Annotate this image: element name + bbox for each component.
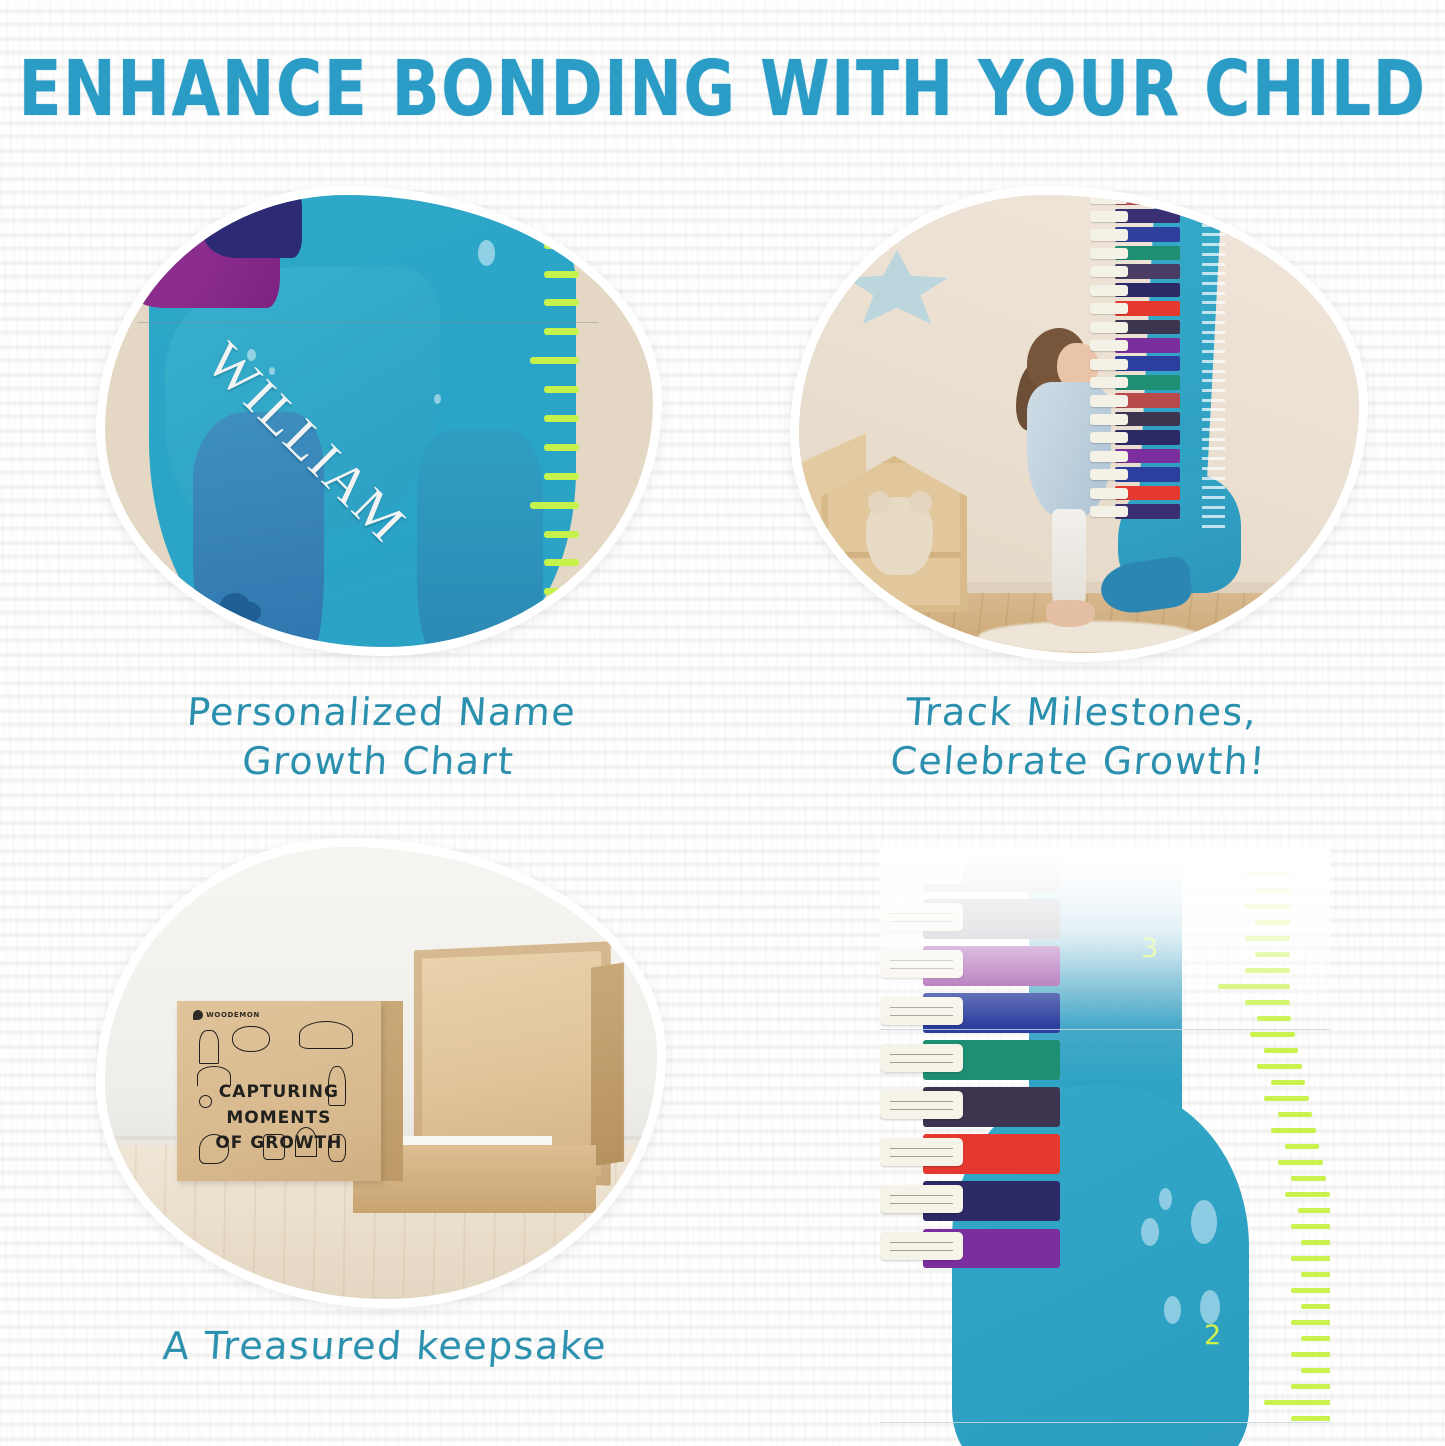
spine-tab	[1090, 229, 1128, 240]
spine-tab	[1090, 395, 1128, 406]
spine-tab	[1090, 414, 1128, 425]
closed-box-side	[381, 1001, 403, 1182]
ruler-label-3: 3	[1141, 933, 1158, 964]
dinosaur-toe	[239, 602, 261, 622]
dinosaur-back-leg	[417, 430, 543, 647]
spine-tab	[1090, 377, 1128, 388]
spine-tab	[1090, 211, 1128, 222]
spine-tab	[1090, 195, 1128, 204]
spine-tab	[1090, 451, 1128, 462]
caption-treasured-keepsake: A Treasured keepsake	[0, 1322, 772, 1371]
closed-printed-box: WOODEMON CAPTURING MOMENTS OF GROWTH	[177, 1001, 381, 1182]
doodle-sun-icon	[199, 1095, 212, 1108]
floor-plush-toy	[810, 598, 877, 635]
growth-chart-spine-blocks	[1090, 195, 1180, 539]
brand-name: WOODEMON	[206, 1011, 260, 1019]
spine-tab	[1090, 285, 1128, 296]
ruler-label-2: 2	[1204, 1320, 1221, 1351]
panel-personalized-name: WILLIAM	[96, 186, 662, 656]
doodle-giraffe-icon	[328, 1066, 346, 1106]
doodle-cat-icon	[263, 1134, 285, 1160]
spine-tab	[1090, 322, 1128, 333]
spine-tab	[1090, 248, 1128, 259]
spine-tab	[1090, 469, 1128, 480]
detail-guide-line	[880, 1422, 1330, 1423]
detail-dino-spot	[1191, 1200, 1217, 1244]
detail-guide-line	[880, 1029, 1330, 1030]
brand-logo: WOODEMON	[193, 1010, 260, 1020]
panel-room-scene	[790, 186, 1368, 662]
spine-tab	[1090, 488, 1128, 499]
spine-tab	[1090, 432, 1128, 443]
spine-tab	[1090, 359, 1128, 370]
photo-room-scene	[799, 195, 1359, 653]
doodle-cactus-icon	[199, 1030, 219, 1064]
spine-tab	[1090, 303, 1128, 314]
detail-spine-tab	[880, 1138, 963, 1166]
detail-dino-spot	[1141, 1218, 1159, 1246]
growth-chart-ticks	[1202, 204, 1224, 534]
detail-spine-tab	[880, 950, 963, 978]
child-leggings	[1052, 509, 1086, 609]
dino-spot	[478, 240, 495, 266]
doodle-toucan-icon	[199, 1134, 229, 1164]
detail-spine-tab	[880, 856, 963, 884]
spine-plate-navy	[204, 195, 303, 258]
detail-ruler-closeup: 3 2	[880, 846, 1330, 1446]
doodle-lion-icon	[232, 1026, 270, 1052]
page-title: ENHANCE BONDING WITH YOUR CHILD	[0, 44, 1445, 133]
detail-spine-tab	[880, 1091, 963, 1119]
detail-dino-spot	[1164, 1296, 1181, 1324]
doodle-dinosaur-icon	[299, 1021, 353, 1049]
dino-spot	[434, 394, 441, 404]
spine-tab	[1090, 340, 1128, 351]
panel-packaging: WOODEMON CAPTURING MOMENTS OF GROWTH	[96, 838, 666, 1308]
detail-spine-tab	[880, 1044, 963, 1072]
caption-track-milestones: Track Milestones, Celebrate Growth!	[697, 688, 1445, 785]
detail-spine-blocks	[880, 852, 1060, 1296]
detail-ruler-ticks	[1218, 870, 1290, 1422]
detail-dino-spot	[1159, 1188, 1172, 1210]
doodle-rainbow-icon	[197, 1066, 231, 1086]
detail-dino-spot	[1200, 1290, 1220, 1324]
doodle-mushroom-icon	[328, 1134, 346, 1162]
spine-tab	[1090, 266, 1128, 277]
detail-spine-tab	[880, 997, 963, 1025]
photo-personalized-name: WILLIAM	[105, 195, 653, 647]
detail-spine-tab	[880, 903, 963, 931]
doodle-palm-icon	[295, 1127, 317, 1157]
ruler-ticks	[530, 209, 579, 634]
open-box-side-flap	[591, 962, 624, 1166]
photo-packaging: WOODEMON CAPTURING MOMENTS OF GROWTH	[105, 847, 657, 1299]
detail-spine-tab	[880, 1185, 963, 1213]
teddy-bear-plush	[866, 497, 933, 575]
child-feet	[1046, 600, 1095, 627]
spine-tab	[1090, 506, 1128, 517]
detail-spine-tab	[880, 1232, 963, 1260]
caption-personalized-name: Personalized Name Growth Chart	[0, 688, 763, 785]
brand-mark-icon	[193, 1010, 203, 1020]
